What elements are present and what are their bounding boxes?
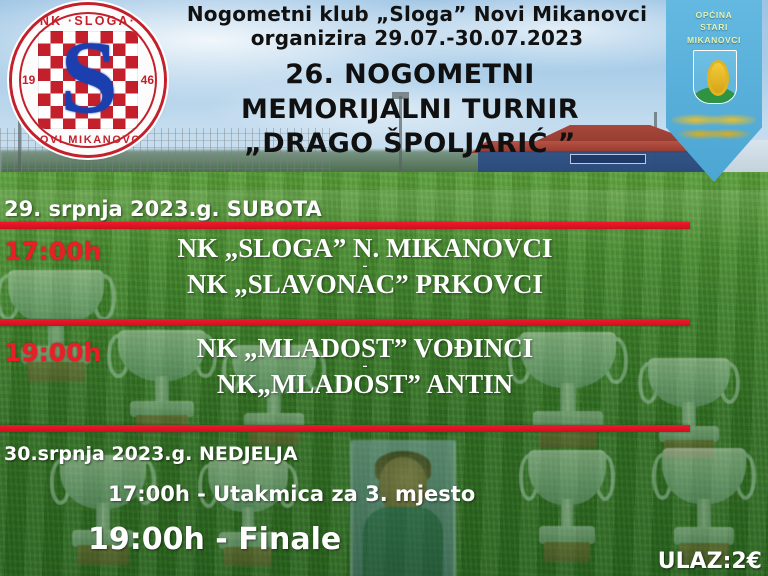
crest-shield — [693, 50, 737, 104]
match-1-away-team: NK „SLAVONAC” PRKOVCI — [130, 270, 600, 298]
divider-line — [0, 222, 690, 229]
crest-wheat-sheaf-icon — [707, 60, 729, 96]
sunday-final-match: 19:00h - Finale — [88, 522, 341, 557]
crest-line-2: STARI — [666, 21, 762, 33]
crest-line-1: OPĆINA — [666, 9, 762, 21]
match-time-2: 19:00h — [4, 338, 101, 367]
title-line-1: 26. NOGOMETNI — [150, 58, 670, 93]
day-label-saturday: 29. srpnja 2023.g. SUBOTA — [4, 197, 322, 221]
logo-bottom-text: NOVI MIKANOVCI — [12, 135, 164, 147]
entry-price: ULAZ:2€ — [658, 549, 762, 574]
poster-title: 26. NOGOMETNI MEMORIJALNI TURNIR „DRAGO … — [150, 58, 670, 162]
poster-header: Nogometni klub „Sloga” Novi Mikanovci or… — [168, 2, 666, 51]
divider-line — [0, 425, 690, 432]
memorial-portrait — [350, 440, 456, 576]
title-line-3: „DRAGO ŠPOLJARIĆ ” — [150, 127, 670, 162]
match-fixture-1: NK „SLOGA” N. MIKANOVCI - NK „SLAVONAC” … — [130, 234, 600, 298]
tournament-poster: S NK ·SLOGA· 19 46 NOVI MIKANOVCI OPĆINA… — [0, 0, 768, 576]
day-label-sunday: 30.srpnja 2023.g. NEDJELJA — [4, 443, 298, 465]
header-line-1: Nogometni klub „Sloga” Novi Mikanovci — [168, 2, 666, 26]
logo-year-left: 19 — [22, 73, 35, 87]
club-logo: S NK ·SLOGA· 19 46 NOVI MIKANOVCI — [12, 5, 164, 155]
logo-top-text: NK ·SLOGA· — [12, 14, 164, 28]
crest-line-3: MIKANOVCI — [666, 34, 762, 46]
trophy-graphic — [528, 450, 606, 562]
crest-text: OPĆINA STARI MIKANOVCI — [666, 9, 762, 46]
crest-wheat-sprays-icon — [672, 104, 756, 156]
title-line-2: MEMORIJALNI TURNIR — [150, 93, 670, 128]
header-line-2: organizira 29.07.-30.07.2023 — [168, 26, 666, 50]
match-2-away-team: NK„MLADOST” ANTIN — [130, 370, 600, 398]
sunday-third-place-match: 17:00h - Utakmica za 3. mjesto — [108, 482, 475, 506]
match-fixture-2: NK „MLADOST” VOĐINCI - NK„MLADOST” ANTIN — [130, 334, 600, 398]
trophy-graphic — [648, 358, 730, 458]
match-time-1: 17:00h — [4, 237, 101, 266]
portrait-torso — [363, 507, 443, 576]
trophy-graphic — [662, 448, 746, 564]
divider-line — [0, 319, 690, 326]
